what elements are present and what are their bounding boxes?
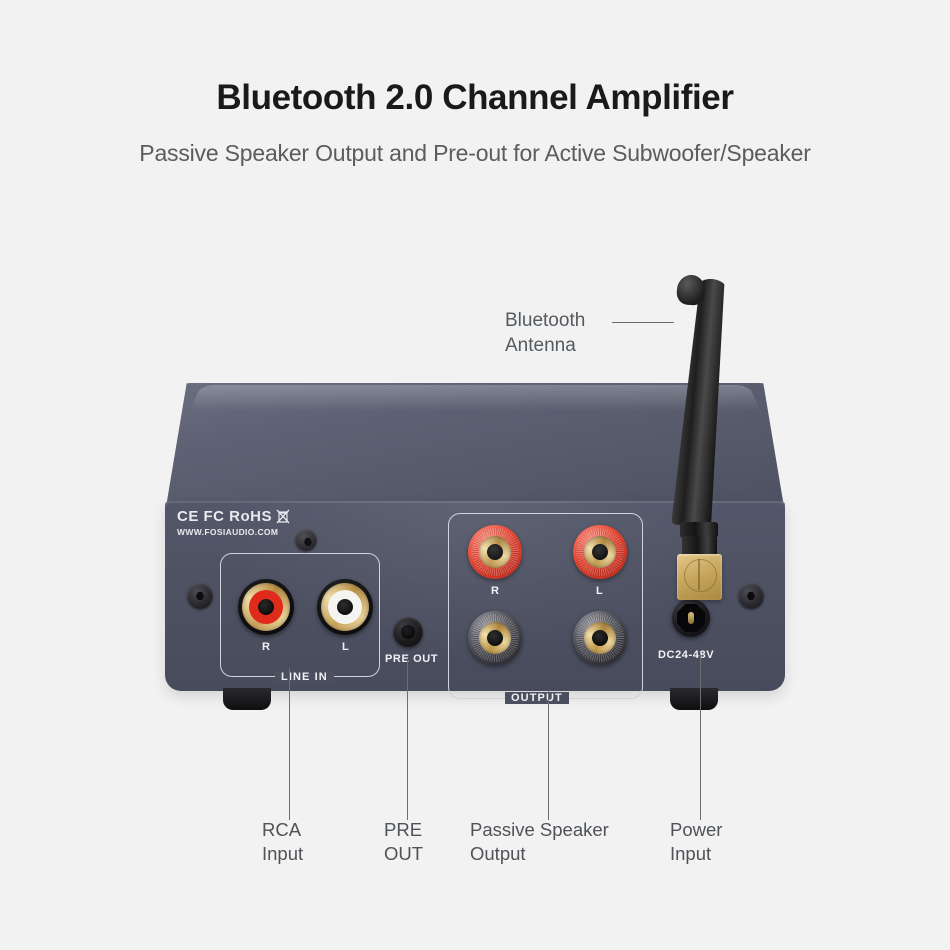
- certification-marks-row: CE FC RoHS: [177, 509, 290, 524]
- callout-leader-rca-input: [289, 668, 290, 820]
- hex-screw-left: [187, 583, 213, 609]
- rca-label-left: L: [342, 641, 349, 653]
- certification-marks-text: CE FC RoHS: [177, 509, 272, 524]
- rca-jack-left[interactable]: [317, 579, 373, 635]
- callout-bluetooth-antenna: Bluetooth Antenna: [505, 308, 585, 358]
- infographic-canvas: Bluetooth 2.0 Channel Amplifier Passive …: [0, 0, 950, 950]
- dc-jack-center-pin: [688, 612, 694, 624]
- binding-post-right-positive[interactable]: [468, 525, 522, 579]
- rca-hole-left: [337, 599, 353, 615]
- antenna-gold-base: [677, 554, 722, 600]
- pre-out-label: PRE OUT: [385, 653, 438, 665]
- binding-post-hole-ln: [592, 630, 608, 646]
- output-label-left: L: [596, 585, 603, 597]
- hex-screw-center-top: [295, 529, 317, 551]
- callout-passive-speaker-output: Passive Speaker Output: [470, 818, 609, 866]
- rubber-foot-right: [670, 688, 718, 710]
- binding-post-left-negative[interactable]: [573, 611, 627, 665]
- antenna-rod: [671, 277, 732, 528]
- line-in-group-label: LINE IN: [275, 671, 334, 683]
- certification-block: CE FC RoHS WWW.FOSIAUDIO.COM: [177, 509, 290, 537]
- rca-jack-right[interactable]: [238, 579, 294, 635]
- rca-hole-right: [258, 599, 274, 615]
- page-subtitle: Passive Speaker Output and Pre-out for A…: [0, 140, 950, 167]
- callout-power-input: Power Input: [670, 818, 722, 866]
- crossed-out-wheelie-bin-icon: [276, 509, 290, 524]
- callout-leader-power-input: [700, 655, 701, 820]
- output-label-right: R: [491, 585, 500, 597]
- bluetooth-antenna[interactable]: [663, 278, 735, 570]
- output-group-label: OUTPUT: [505, 692, 569, 704]
- rca-label-right: R: [262, 641, 271, 653]
- binding-post-left-positive[interactable]: [573, 525, 627, 579]
- certification-website: WWW.FOSIAUDIO.COM: [177, 528, 290, 537]
- binding-post-hole-rn: [487, 630, 503, 646]
- antenna-tip: [676, 274, 707, 306]
- callout-pre-out: PRE OUT: [384, 818, 423, 866]
- callout-rca-input: RCA Input: [262, 818, 303, 866]
- binding-post-right-negative[interactable]: [468, 611, 522, 665]
- dc-power-label: DC24-48V: [658, 649, 714, 661]
- page-title: Bluetooth 2.0 Channel Amplifier: [0, 78, 950, 118]
- pre-out-jack[interactable]: [393, 617, 423, 647]
- hex-screw-right: [738, 583, 764, 609]
- binding-post-hole-lp: [592, 544, 608, 560]
- callout-leader-passive-speaker-output: [548, 690, 549, 820]
- rubber-foot-left: [223, 688, 271, 710]
- callout-leader-pre-out: [407, 660, 408, 820]
- binding-post-hole-rp: [487, 544, 503, 560]
- dc-power-jack[interactable]: [672, 599, 710, 637]
